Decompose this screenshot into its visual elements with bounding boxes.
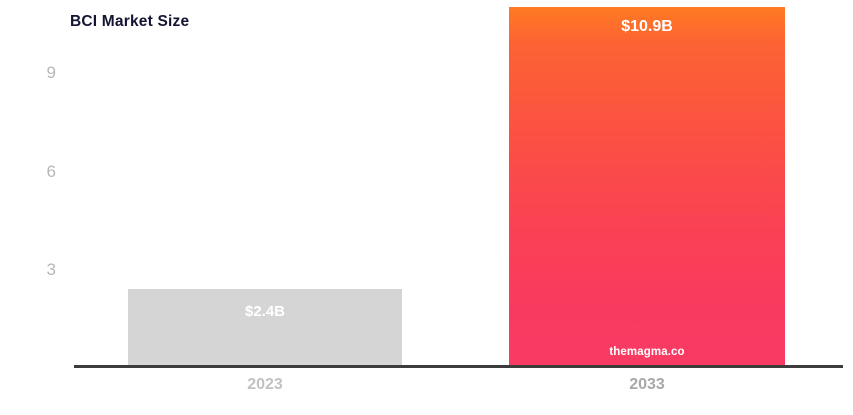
bar-value-label-2033: $10.9B bbox=[509, 18, 785, 36]
bci-market-size-chart: BCI Market Size 9 6 3 $2.4B $10.9B thema… bbox=[0, 0, 853, 415]
x-axis-tick-2033: 2033 bbox=[509, 376, 785, 394]
bar-value-label-2023: $2.4B bbox=[128, 303, 402, 320]
plot-area: $2.4B $10.9B themagma.co bbox=[0, 0, 853, 415]
x-axis-line bbox=[74, 365, 843, 368]
watermark-label: themagma.co bbox=[509, 346, 785, 358]
bar-2033[interactable]: $10.9B themagma.co bbox=[509, 7, 785, 366]
x-axis-tick-2023: 2023 bbox=[128, 376, 402, 394]
bar-2023[interactable]: $2.4B bbox=[128, 289, 402, 366]
